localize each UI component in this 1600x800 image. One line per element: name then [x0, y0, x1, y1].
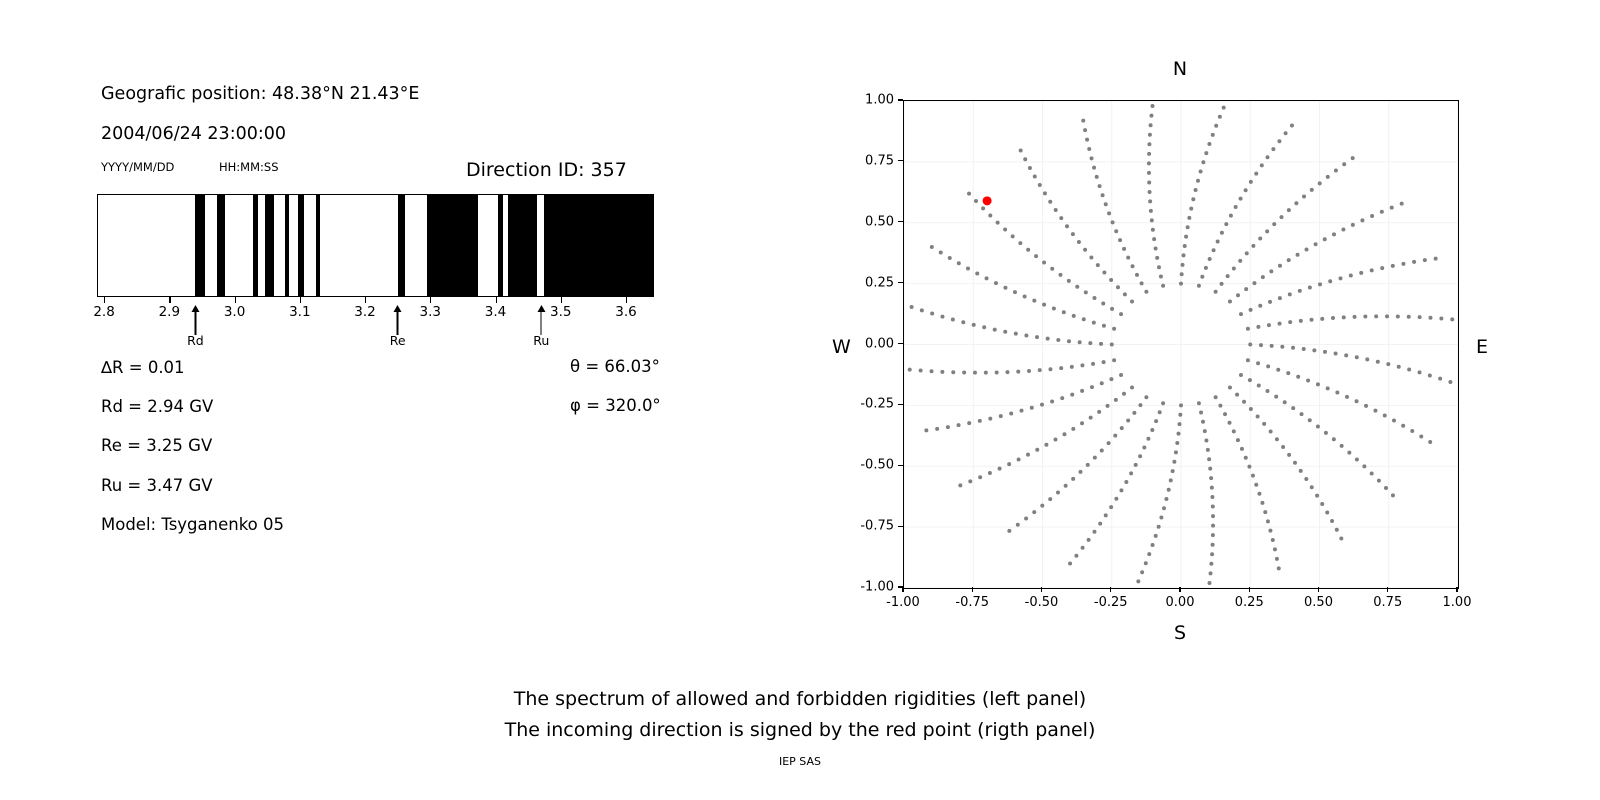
direction-point — [1246, 358, 1250, 362]
direction-point — [1304, 477, 1308, 481]
direction-point — [1216, 239, 1220, 243]
direction-point — [1254, 483, 1258, 487]
axis-tick — [300, 297, 301, 303]
direction-point — [1112, 358, 1116, 362]
direction-point — [1157, 265, 1161, 269]
direction-point — [1266, 155, 1270, 159]
direction-point — [1038, 183, 1042, 187]
direction-point — [1256, 325, 1260, 329]
compass-label-south: S — [1174, 622, 1186, 644]
direction-point — [1277, 139, 1281, 143]
direction-point — [1080, 363, 1084, 367]
direction-point — [1380, 210, 1384, 214]
direction-point — [1392, 419, 1396, 423]
direction-point — [1380, 266, 1384, 270]
direction-point — [1370, 214, 1374, 218]
direction-point — [1092, 296, 1096, 300]
direction-point — [1318, 181, 1322, 185]
direction-point — [1122, 247, 1126, 251]
direction-point — [1396, 314, 1400, 318]
direction-point — [1107, 211, 1111, 215]
direction-point — [1448, 380, 1452, 384]
direction-point — [962, 371, 966, 375]
direction-point — [1373, 409, 1377, 413]
direction-point — [961, 320, 965, 324]
direction-point — [1201, 160, 1205, 164]
direction-point — [1355, 355, 1359, 359]
sky-map-axes — [903, 100, 1459, 589]
caption-line-2: The incoming direction is signed by the … — [0, 719, 1600, 741]
direction-point — [1232, 429, 1236, 433]
direction-point — [1314, 242, 1318, 246]
direction-point — [1186, 225, 1190, 229]
direction-point — [939, 251, 943, 255]
direction-point — [1164, 497, 1168, 501]
direction-point — [1324, 431, 1328, 435]
compass-label-east: E — [1476, 336, 1488, 358]
direction-point — [1070, 365, 1074, 369]
direction-point — [951, 370, 955, 374]
direction-point — [1199, 411, 1203, 415]
direction-point — [1397, 365, 1401, 369]
direction-point — [1355, 457, 1359, 461]
rigidity-marker-label: Re — [390, 333, 406, 348]
direction-point — [978, 475, 982, 479]
forbidden-band — [285, 195, 290, 296]
direction-point — [1136, 579, 1140, 583]
direction-point — [1299, 319, 1303, 323]
geographic-position-text: Geografic position: 48.38°N 21.43°E — [101, 84, 419, 104]
direction-point — [946, 425, 950, 429]
direction-point — [1078, 340, 1082, 344]
direction-point — [1075, 285, 1079, 289]
direction-point — [1142, 446, 1146, 450]
date-format-hint: YYYY/MM/DD — [101, 160, 174, 174]
direction-point — [1032, 299, 1036, 303]
direction-point — [1169, 478, 1173, 482]
direction-point — [1100, 448, 1104, 452]
direction-point — [1204, 438, 1208, 442]
direction-point — [1003, 286, 1007, 290]
direction-point — [1052, 307, 1056, 311]
direction-point — [1302, 195, 1306, 199]
direction-point — [1003, 330, 1007, 334]
direction-point — [1332, 437, 1336, 441]
direction-point — [1074, 554, 1078, 558]
direction-point — [1270, 344, 1274, 348]
y-axis-tick — [898, 160, 903, 161]
re-value: Re = 3.25 GV — [101, 436, 212, 455]
direction-point — [1240, 447, 1244, 451]
direction-point — [1258, 304, 1262, 308]
direction-point — [1244, 287, 1248, 291]
direction-point — [1122, 392, 1126, 396]
direction-point — [1211, 543, 1215, 547]
direction-point — [1242, 400, 1246, 404]
direction-point — [1085, 138, 1089, 142]
direction-point — [993, 328, 997, 332]
direction-point — [1079, 470, 1083, 474]
y-axis-tick-label: 0.75 — [800, 153, 894, 168]
direction-point — [1386, 362, 1390, 366]
forbidden-band — [427, 195, 478, 296]
direction-point — [1089, 416, 1093, 420]
direction-point — [1391, 264, 1395, 268]
direction-point — [1109, 377, 1113, 381]
direction-point — [1048, 497, 1052, 501]
x-axis-tick-label: 0.75 — [1373, 595, 1402, 610]
direction-point — [1279, 215, 1283, 219]
forbidden-band — [544, 195, 653, 296]
direction-point — [1046, 337, 1050, 341]
direction-point — [1056, 338, 1060, 342]
direction-point — [1159, 274, 1163, 278]
axis-tick — [561, 297, 562, 303]
direction-point — [930, 312, 934, 316]
direction-point — [1306, 378, 1310, 382]
direction-point — [1140, 570, 1144, 574]
forbidden-band — [398, 195, 405, 296]
direction-point — [1180, 272, 1184, 276]
direction-point — [1067, 279, 1071, 283]
forbidden-band — [316, 195, 320, 296]
direction-point — [1220, 282, 1224, 286]
direction-point — [1072, 314, 1076, 318]
direction-point — [1134, 463, 1138, 467]
x-axis-tick — [972, 587, 973, 592]
direction-point — [1044, 443, 1048, 447]
direction-point — [1187, 216, 1191, 220]
direction-point — [1273, 547, 1277, 551]
axis-tick-label: 3.0 — [224, 304, 245, 320]
direction-point — [1084, 290, 1088, 294]
direction-point — [1144, 290, 1148, 294]
direction-point — [1423, 258, 1427, 262]
direction-point — [1209, 562, 1213, 566]
direction-point — [1239, 197, 1243, 201]
direction-point — [1050, 267, 1054, 271]
direction-point — [1259, 343, 1263, 347]
direction-point — [1212, 248, 1216, 252]
direction-point — [1251, 474, 1255, 478]
direction-point — [1251, 244, 1255, 248]
direction-point — [1147, 171, 1151, 175]
direction-point — [1260, 163, 1264, 167]
direction-point — [1106, 404, 1110, 408]
direction-point — [1265, 229, 1269, 233]
direction-point — [1120, 426, 1124, 430]
direction-point — [1287, 208, 1291, 212]
direction-point — [1320, 317, 1324, 321]
x-axis-tick-label: 1.00 — [1443, 595, 1472, 610]
direction-point — [1030, 406, 1034, 410]
y-axis-tick-label: -0.75 — [800, 519, 894, 534]
footer-credit: IEP SAS — [0, 755, 1600, 768]
direction-point — [1266, 364, 1270, 368]
direction-point — [1161, 284, 1165, 288]
direction-point — [1419, 434, 1423, 438]
direction-point — [1318, 282, 1322, 286]
direction-point — [1058, 273, 1062, 277]
direction-point — [1384, 486, 1388, 490]
direction-point — [1257, 492, 1261, 496]
direction-point — [1418, 370, 1422, 374]
direction-point — [1370, 268, 1374, 272]
direction-point — [1383, 414, 1387, 418]
direction-point — [1222, 106, 1226, 110]
direction-point — [1059, 216, 1063, 220]
direction-point — [1256, 414, 1260, 418]
direction-point — [1194, 188, 1198, 192]
direction-point — [1347, 451, 1351, 455]
direction-point — [1135, 273, 1139, 277]
direction-point — [1286, 371, 1290, 375]
direction-point — [1144, 561, 1148, 565]
direction-point — [1256, 361, 1260, 365]
direction-point — [1323, 350, 1327, 354]
direction-point — [1110, 307, 1114, 311]
direction-point — [1109, 505, 1113, 509]
y-axis-tick — [898, 221, 903, 222]
direction-point — [1154, 247, 1158, 251]
direction-point — [1201, 420, 1205, 424]
direction-point — [967, 192, 971, 196]
direction-point — [1323, 237, 1327, 241]
y-axis-tick — [898, 465, 903, 466]
direction-point — [1434, 257, 1438, 261]
direction-id-text: Direction ID: 357 — [466, 159, 627, 181]
direction-point — [1209, 476, 1213, 480]
direction-point — [1027, 369, 1031, 373]
direction-point — [1060, 396, 1064, 400]
direction-point — [1218, 115, 1222, 119]
y-axis-tick-label: -0.25 — [800, 397, 894, 412]
direction-point — [1345, 395, 1349, 399]
direction-point — [1119, 312, 1123, 316]
direction-point — [972, 323, 976, 327]
direction-point — [1067, 339, 1071, 343]
direction-point — [1014, 332, 1018, 336]
direction-point — [1147, 142, 1151, 146]
direction-point — [1054, 208, 1058, 212]
direction-point — [1328, 279, 1332, 283]
forbidden-band — [253, 195, 258, 296]
direction-point — [1214, 395, 1218, 399]
forbidden-band — [265, 195, 273, 296]
x-axis-tick — [1041, 587, 1042, 592]
direction-point — [1102, 324, 1106, 328]
direction-point — [1211, 533, 1215, 537]
direction-point — [1150, 218, 1154, 222]
direction-point — [1081, 546, 1085, 550]
direction-point — [1325, 510, 1329, 514]
direction-point — [1126, 419, 1130, 423]
direction-point — [974, 199, 978, 203]
forbidden-band — [217, 195, 225, 296]
time-format-hint: HH:MM:SS — [219, 160, 279, 174]
direction-point — [1335, 528, 1339, 532]
direction-point — [1157, 525, 1161, 529]
direction-point — [1148, 190, 1152, 194]
direction-point — [1280, 345, 1284, 349]
direction-point — [1071, 232, 1075, 236]
direction-point — [930, 245, 934, 249]
direction-point — [1005, 370, 1009, 374]
direction-point — [1274, 395, 1278, 399]
direction-point — [1278, 264, 1282, 268]
ru-value: Ru = 3.47 GV — [101, 476, 213, 495]
direction-point — [1032, 510, 1036, 514]
axis-tick — [169, 297, 170, 303]
direction-point — [1229, 214, 1233, 218]
rigidity-marker-arrow — [397, 305, 398, 335]
direction-point — [1391, 493, 1395, 497]
direction-point — [1118, 238, 1122, 242]
forbidden-band — [498, 195, 503, 296]
direction-point — [1438, 377, 1442, 381]
direction-point — [1175, 441, 1179, 445]
axis-tick-label: 3.5 — [550, 304, 571, 320]
x-axis-tick — [1249, 587, 1250, 592]
direction-point — [1048, 200, 1052, 204]
direction-point — [1275, 437, 1279, 441]
direction-point — [1065, 224, 1069, 228]
rigidity-axis: 2.82.93.03.13.23.33.43.53.6RdReRu — [97, 297, 654, 357]
sky-map-scatter — [904, 101, 1458, 588]
direction-point — [1096, 263, 1100, 267]
direction-point — [1401, 262, 1405, 266]
direction-point — [968, 479, 972, 483]
direction-point — [1083, 248, 1087, 252]
direction-point — [1428, 440, 1432, 444]
direction-point — [1059, 366, 1063, 370]
direction-point — [1132, 411, 1136, 415]
direction-point — [1062, 310, 1066, 314]
direction-point — [1138, 403, 1142, 407]
direction-point — [1024, 334, 1028, 338]
direction-point — [1154, 534, 1158, 538]
direction-point — [1290, 123, 1294, 127]
direction-point — [1130, 299, 1134, 303]
direction-point — [1341, 228, 1345, 232]
direction-point — [1428, 316, 1432, 320]
direction-point — [1232, 266, 1236, 270]
direction-point — [1214, 290, 1218, 294]
direction-point — [1288, 320, 1292, 324]
x-axis-tick — [902, 587, 903, 592]
direction-point — [1178, 422, 1182, 426]
x-axis-tick-label: -0.25 — [1094, 595, 1128, 610]
direction-point — [1016, 370, 1020, 374]
theta-value: θ = 66.03° — [570, 357, 660, 376]
direction-point — [1269, 269, 1273, 273]
direction-point — [1071, 477, 1075, 481]
direction-point — [1116, 285, 1120, 289]
axis-tick-label: 3.3 — [420, 304, 441, 320]
direction-point — [1291, 346, 1295, 350]
direction-point — [1210, 552, 1214, 556]
direction-point — [1236, 293, 1240, 297]
direction-point — [1097, 410, 1101, 414]
datetime-text: 2004/06/24 23:00:00 — [101, 124, 286, 144]
axis-tick — [235, 297, 236, 303]
y-axis-tick — [898, 282, 903, 283]
direction-point — [1308, 418, 1312, 422]
direction-point — [1119, 373, 1123, 377]
direction-point — [1099, 342, 1103, 346]
direction-point — [1144, 395, 1148, 399]
direction-point — [1035, 448, 1039, 452]
direction-point — [1211, 505, 1215, 509]
direction-point — [1338, 276, 1342, 280]
direction-point — [1263, 510, 1267, 514]
direction-point — [1239, 373, 1243, 377]
direction-point — [1206, 448, 1210, 452]
direction-point — [1305, 247, 1309, 251]
direction-point — [1007, 529, 1011, 533]
direction-point — [966, 266, 970, 270]
axis-tick-label: 2.8 — [93, 304, 114, 320]
compass-label-north: N — [1173, 58, 1187, 80]
direction-point — [1090, 156, 1094, 160]
direction-point — [1211, 133, 1215, 137]
direction-point — [1351, 156, 1355, 160]
direction-point — [1236, 438, 1240, 442]
direction-point — [1244, 188, 1248, 192]
direction-point — [1211, 524, 1215, 528]
direction-point — [1184, 235, 1188, 239]
direction-point — [1020, 409, 1024, 413]
direction-point — [1281, 445, 1285, 449]
direction-point — [1239, 312, 1243, 316]
direction-point — [1428, 373, 1432, 377]
axis-tick-label: 3.1 — [289, 304, 310, 320]
direction-point — [1101, 193, 1105, 197]
direction-point — [1353, 315, 1357, 319]
direction-point — [1364, 404, 1368, 408]
y-axis-tick — [898, 343, 903, 344]
y-axis-tick-label: 1.00 — [800, 93, 894, 108]
direction-point — [1374, 314, 1378, 318]
direction-point — [1152, 237, 1156, 241]
direction-point — [1344, 353, 1348, 357]
direction-point — [1326, 386, 1330, 390]
direction-point — [958, 483, 962, 487]
direction-point — [1159, 516, 1163, 520]
direction-point — [1102, 360, 1106, 364]
direction-point — [1252, 281, 1256, 285]
direction-point — [1131, 264, 1135, 268]
direction-point — [1390, 206, 1394, 210]
direction-point — [1180, 263, 1184, 267]
y-axis-tick-label: -0.50 — [800, 458, 894, 473]
phi-value: φ = 320.0° — [570, 396, 661, 415]
x-axis-tick — [1110, 587, 1111, 592]
direction-point — [1235, 393, 1239, 397]
direction-point — [1114, 229, 1118, 233]
direction-point — [1349, 274, 1353, 278]
x-axis-tick-label: -0.50 — [1025, 595, 1059, 610]
direction-point — [1028, 166, 1032, 170]
direction-point — [988, 213, 992, 217]
axis-tick-label: 2.9 — [159, 304, 180, 320]
direction-point — [1267, 323, 1271, 327]
direction-point — [1227, 421, 1231, 425]
direction-point — [1147, 180, 1151, 184]
direction-point — [984, 371, 988, 375]
caption-line-1: The spectrum of allowed and forbidden ri… — [0, 688, 1600, 710]
direction-point — [948, 256, 952, 260]
